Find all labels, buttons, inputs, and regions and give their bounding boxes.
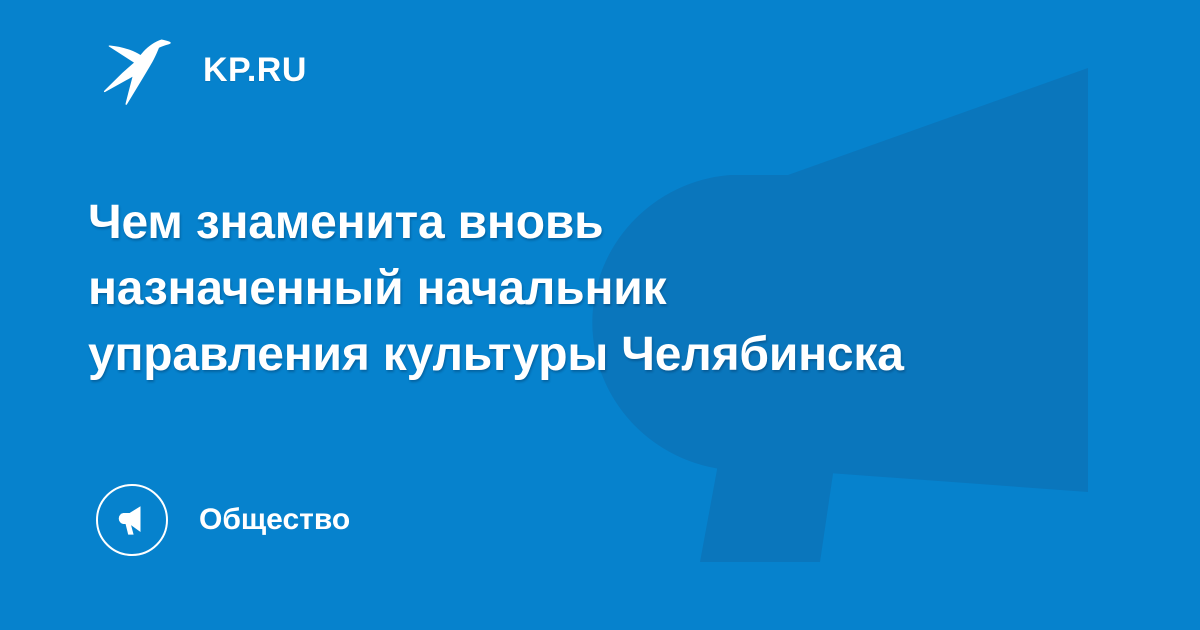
rubric-badge[interactable]: Общество — [96, 484, 350, 556]
rubric-icon-circle — [96, 484, 168, 556]
social-share-card: KP.RU Чем знаменита вновь назначенный на… — [0, 0, 1200, 630]
brand-name: KP.RU — [203, 53, 307, 87]
rubric-label: Общество — [199, 505, 350, 535]
article-headline: Чем знаменита вновь назначенный начальни… — [88, 190, 1098, 388]
swallow-bird-icon — [101, 34, 179, 106]
megaphone-icon — [114, 502, 150, 538]
brand-header[interactable]: KP.RU — [101, 34, 307, 106]
